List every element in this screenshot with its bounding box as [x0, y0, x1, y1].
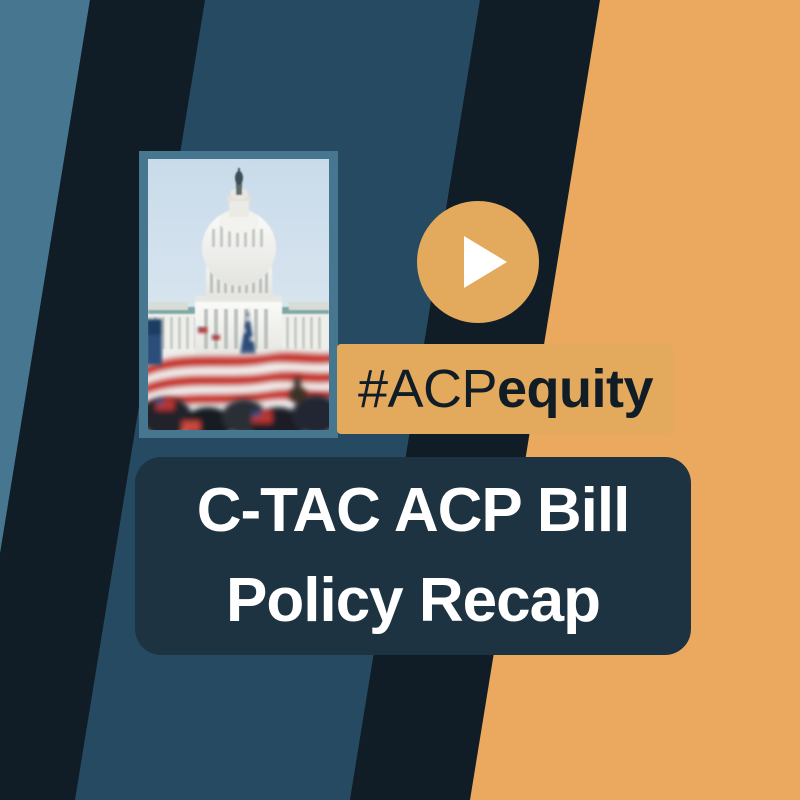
hashtag-prefix: #ACP: [358, 359, 497, 419]
capitol-photo-card: [139, 151, 338, 438]
title-card: C-TAC ACP Bill Policy Recap: [135, 457, 691, 655]
hashtag-text: #ACPequity: [358, 362, 653, 416]
edge-flag: [148, 319, 162, 365]
capitol-photo: [148, 159, 329, 430]
title-line-1: C-TAC ACP Bill: [197, 466, 630, 556]
hashtag-banner: #ACPequity: [337, 344, 674, 434]
play-button[interactable]: [417, 201, 539, 323]
hashtag-suffix: equity: [497, 359, 653, 419]
video-thumbnail-canvas: #ACPequity C-TAC ACP Bill Policy Recap: [0, 0, 800, 800]
title-line-2: Policy Recap: [226, 556, 600, 646]
play-triangle-icon: [464, 236, 507, 288]
